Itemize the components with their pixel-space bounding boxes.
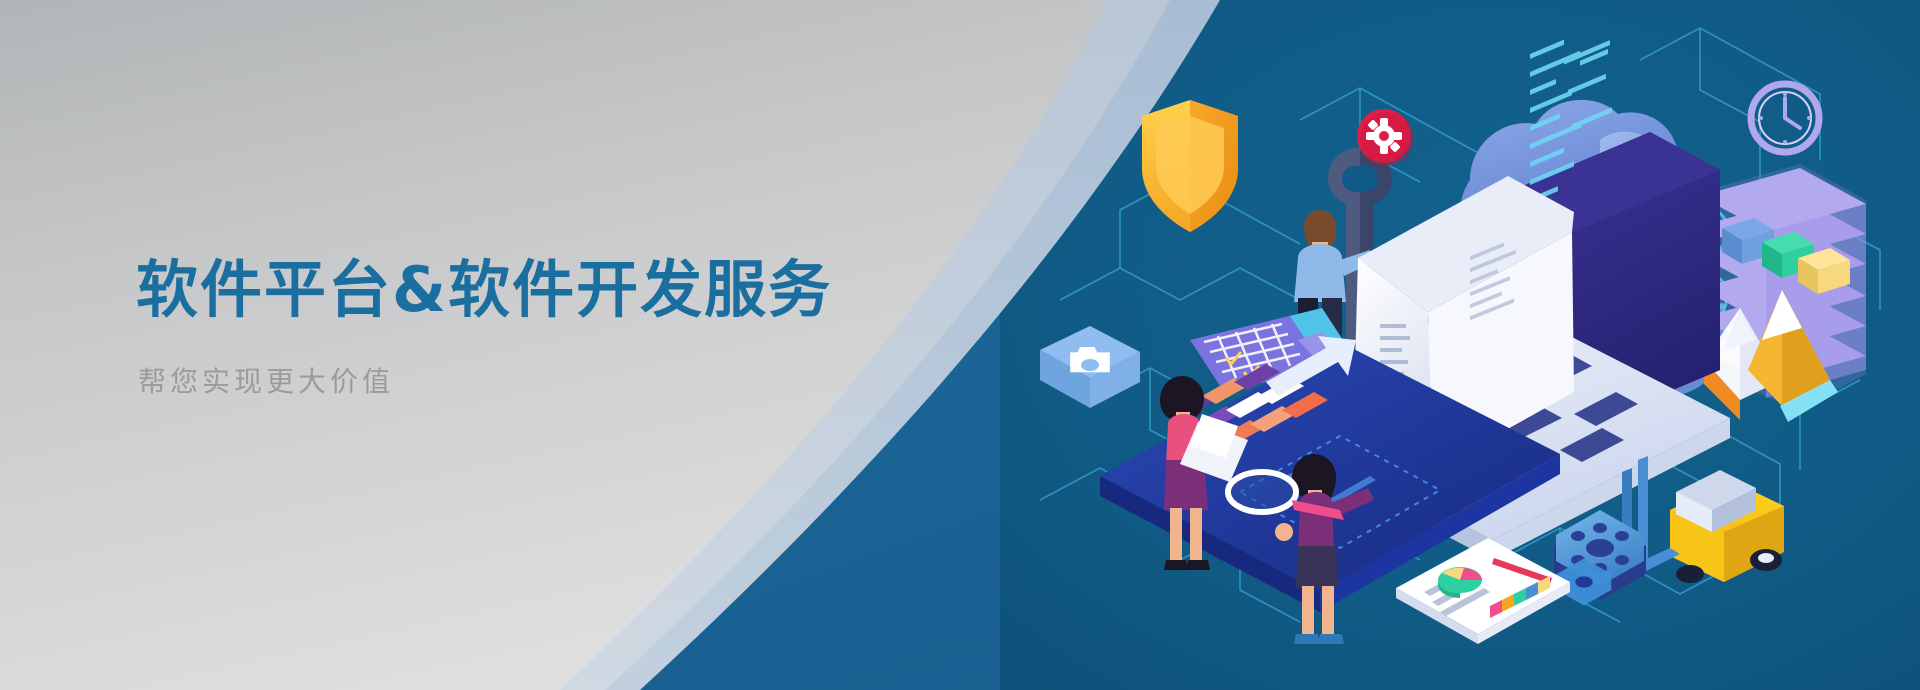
hero-text-block: 软件平台&软件开发服务 帮您实现更大价值 [136,255,956,401]
page-title: 软件平台&软件开发服务 [136,255,956,324]
forklift-icon [1622,456,1784,583]
report-card-pie [1396,538,1570,644]
camera-icon-tile [1040,326,1140,408]
clock-icon [1751,84,1819,152]
shield-icon [1142,100,1238,232]
isometric-illustration [1040,40,1920,690]
hero-banner: 软件平台&软件开发服务 帮您实现更大价值 [0,0,1920,690]
page-subtitle: 帮您实现更大价值 [138,364,956,400]
